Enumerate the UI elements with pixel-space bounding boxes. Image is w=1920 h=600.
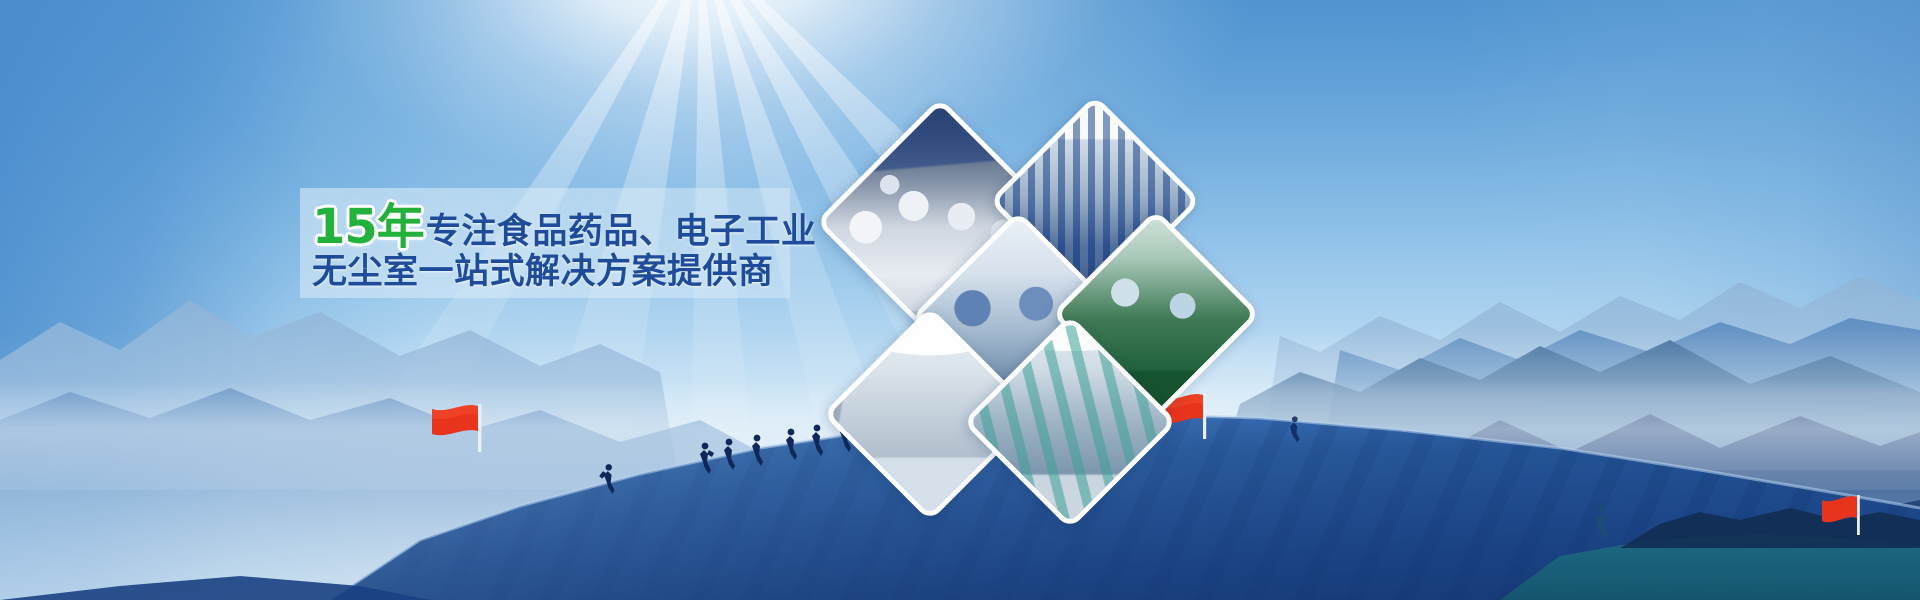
years-number: 15 [312, 203, 377, 252]
photo-collage [838, 92, 1278, 472]
summit-flag-left [432, 404, 481, 452]
summit-flag-far-right [1822, 495, 1860, 535]
hero-banner: 15 年 专注食品药品、电子工业 无尘室一站式解决方案提供商 [0, 0, 1920, 600]
years-unit: 年 [377, 203, 424, 252]
headline-line1-rest: 专注食品药品、电子工业 [426, 214, 817, 250]
headline-line2: 无尘室一站式解决方案提供商 [312, 254, 812, 290]
headline-text: 15 年 专注食品药品、电子工业 无尘室一站式解决方案提供商 [312, 198, 812, 294]
